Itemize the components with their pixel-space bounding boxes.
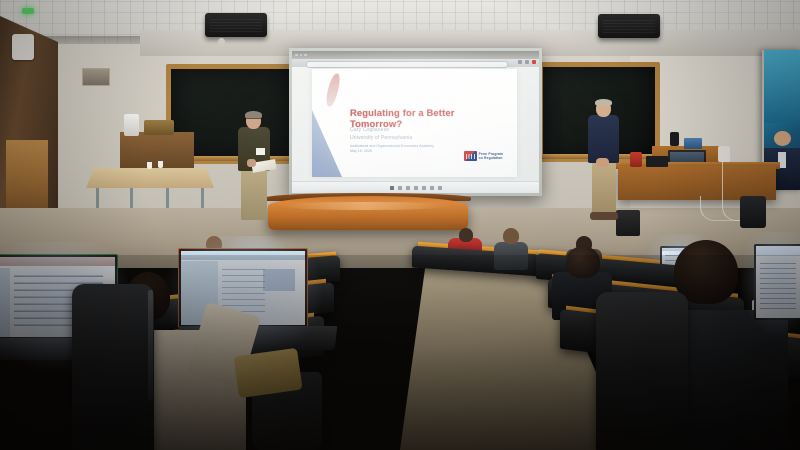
audience-hair: [566, 246, 600, 278]
desk-chair[interactable]: [740, 196, 766, 228]
screen-content-card: [263, 269, 295, 291]
address-bar[interactable]: [306, 61, 508, 68]
draped-jacket: [233, 348, 302, 398]
ceiling-sensor-icon: [218, 38, 225, 45]
wall-outlet-icon: [718, 146, 730, 162]
wall-vent-icon: [82, 68, 110, 86]
penn-shield-icon: [464, 151, 477, 161]
penn-logo-text: Penn Program on Regulation: [479, 152, 503, 161]
notes-icon[interactable]: [398, 186, 402, 190]
browser-dot: [304, 54, 307, 57]
comment-icon[interactable]: [406, 186, 410, 190]
foreground-laptop-far-right[interactable]: [754, 244, 800, 324]
slide-view-icon[interactable]: [390, 186, 394, 190]
coffee-urn: [124, 114, 139, 136]
slide-affiliation: University of Pennsylvania: [350, 135, 412, 143]
projection-screen: Regulating for a Better Tomorrow? Cary C…: [289, 48, 542, 196]
av-equipment-box: [646, 156, 668, 167]
audience-head: [503, 228, 519, 244]
presenter-right-hands: [596, 158, 609, 167]
presenter-right-shoes: [590, 212, 618, 220]
maximize-icon[interactable]: [525, 60, 529, 64]
slide-author-name: Cary Coglianese: [350, 127, 412, 135]
screen-text-lines: [760, 262, 797, 310]
foreground-seat-back-right[interactable]: [596, 292, 688, 450]
browser-dot: [300, 54, 303, 57]
supply-box: [144, 120, 174, 135]
lecture-hall-photo: Regulating for a Better Tomorrow? Cary C…: [0, 0, 800, 450]
ceiling-speaker-right: [598, 14, 660, 38]
slide-author-block: Cary Coglianese University of Pennsylvan…: [350, 127, 412, 143]
camera-icon: [670, 132, 679, 146]
control-monitor[interactable]: [684, 138, 702, 149]
minimize-icon[interactable]: [518, 60, 522, 64]
presenter-right: [584, 100, 626, 222]
foreground-seat-back[interactable]: [72, 284, 154, 450]
exit-light-icon: [22, 8, 34, 14]
presenter-right-blazer: [588, 115, 619, 163]
slide-decoration-swoosh: [325, 72, 342, 107]
slide-canvas: Regulating for a Better Tomorrow? Cary C…: [312, 69, 517, 177]
penn-logo-line-1: Penn Program: [479, 152, 503, 156]
browser-dot: [295, 54, 298, 57]
table-cup: [147, 162, 152, 169]
penn-logo-line-2: on Regulation: [479, 156, 503, 160]
present-icon[interactable]: [438, 186, 442, 190]
laptop-screen: [756, 246, 800, 318]
wall-control-box[interactable]: [12, 34, 34, 60]
refreshment-table: [86, 168, 214, 188]
fit-slide-icon[interactable]: [430, 186, 434, 190]
power-cable: [700, 196, 741, 221]
close-icon[interactable]: [532, 60, 536, 64]
presenter-right-legs: [592, 162, 616, 214]
audience-head: [459, 228, 473, 242]
seat-divider: [148, 290, 153, 400]
presenter-left-legs: [241, 169, 267, 220]
zoom-in-icon[interactable]: [422, 186, 426, 190]
instructor-desk: [618, 166, 776, 200]
zoom-out-icon[interactable]: [414, 186, 418, 190]
screen-surface: Regulating for a Better Tomorrow? Cary C…: [292, 51, 539, 193]
laptop-lid: [754, 244, 800, 320]
presenter-left: [232, 112, 276, 220]
lectern-highlight: [280, 202, 450, 210]
audience-body: [494, 242, 528, 270]
screen-toolbar: [0, 257, 115, 266]
eyeglasses-icon: [246, 118, 261, 122]
display-person-head: [774, 131, 791, 146]
presenter-right-hair: [595, 99, 612, 106]
window-controls[interactable]: [518, 60, 536, 64]
penn-program-logo: Penn Program on Regulation: [464, 151, 503, 161]
name-badge: [256, 148, 265, 155]
screen-sidebar: [0, 268, 10, 337]
browser-title-bar: [292, 51, 539, 59]
screen-toolbar: [756, 246, 800, 256]
slide-date: May 15, 2025: [350, 149, 434, 155]
table-cup: [158, 161, 163, 168]
slide-title: Regulating for a Better Tomorrow?: [350, 107, 507, 129]
ceiling-speaker-left: [205, 13, 267, 37]
presentation-toolbar[interactable]: [292, 181, 539, 193]
audience-member: [494, 228, 528, 268]
red-equipment-box: [630, 152, 642, 167]
presenter-left-hand: [247, 159, 256, 167]
slide-footer-block: Institutional and Organizational Economi…: [350, 144, 434, 155]
display-background: [764, 50, 800, 123]
screen-toolbar: [181, 251, 305, 260]
